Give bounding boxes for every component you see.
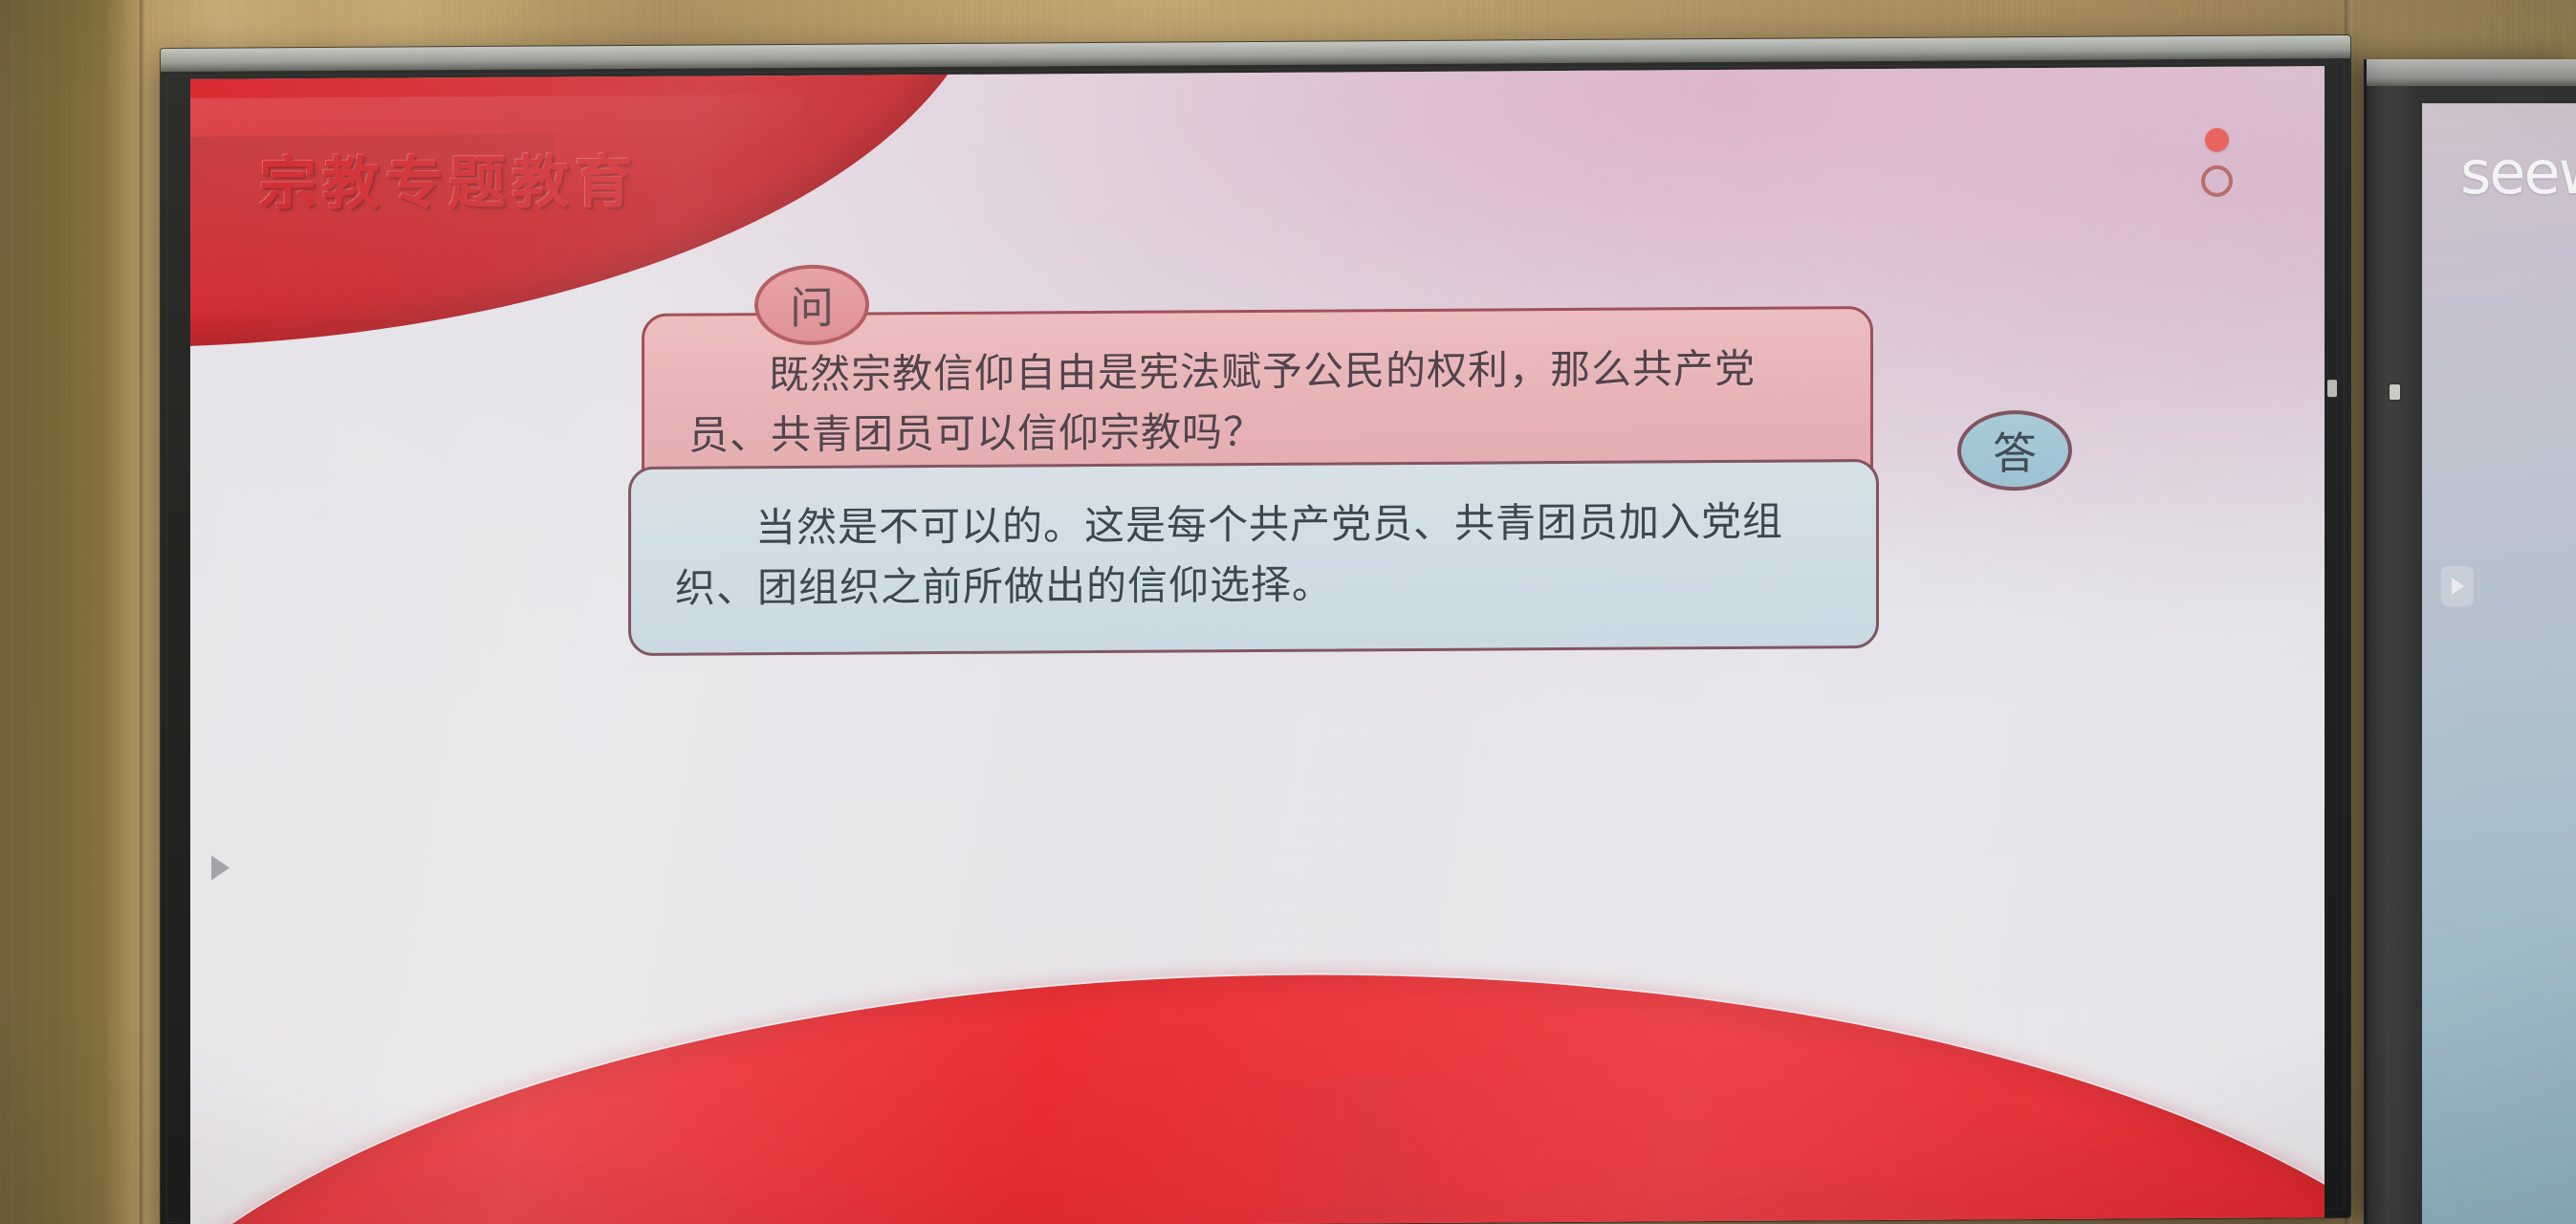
page-dot-inactive[interactable] [2201,165,2233,197]
question-badge: 问 [754,264,869,345]
secondary-display-screen[interactable]: seewo [2422,103,2576,1224]
page-dot-active[interactable] [2205,128,2229,152]
slide-title: 宗教专题教育 [259,136,638,221]
slide-page-indicator[interactable] [2201,128,2233,197]
triangle-right-icon [2452,578,2464,595]
secondary-display-top-trim [2367,59,2576,86]
room-scene: seewo 宗教专题教育 问 既然宗教信仰自由 [0,0,2576,1224]
main-display[interactable]: 宗教专题教育 问 既然宗教信仰自由是宪法赋予公民的权利，那么共产党员、共青团员可… [161,35,2350,1224]
secondary-nav-right-button[interactable] [2441,566,2474,606]
secondary-display[interactable]: seewo [2364,59,2576,1224]
main-display-sensor-icon [2327,380,2337,397]
answer-text-bubble: 当然是不可以的。这是每个共产党员、共青团员加入党组织、团组织之前所做出的信仰选择… [628,459,1879,656]
wall-panel-seam-left [140,0,144,1224]
secondary-display-bezel [2367,86,2420,1224]
background-watermark [1166,1075,1567,1221]
slide-prev-arrow-icon[interactable] [211,856,229,881]
ir-sensor-icon [2390,384,2400,400]
seewo-logo: seewo [2460,138,2576,208]
answer-badge: 答 [1957,410,2072,492]
presentation-slide[interactable]: 宗教专题教育 问 既然宗教信仰自由是宪法赋予公民的权利，那么共产党员、共青团员可… [190,66,2325,1224]
